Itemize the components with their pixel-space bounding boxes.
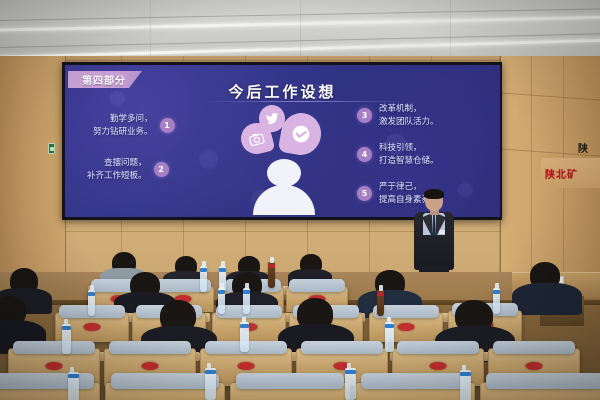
slide-item-2-number: 2 <box>154 162 169 177</box>
slide-item-1: 勤学多问， 努力钻研业务。 1 <box>93 113 175 139</box>
exit-sign-icon <box>48 143 55 154</box>
slide-item-1-number: 1 <box>160 118 175 133</box>
slide-item-2-text: 查摆问题， 补齐工作短板。 <box>87 157 147 183</box>
chair[interactable] <box>230 382 350 400</box>
water-bottle[interactable] <box>385 322 394 352</box>
person-body <box>253 185 315 215</box>
beverage-bottle[interactable] <box>377 290 384 316</box>
slide-title: 今后工作设想 <box>65 81 500 102</box>
ceiling <box>0 0 600 62</box>
venue-banner-text: 陕北矿 <box>545 166 578 181</box>
person-head <box>267 159 301 187</box>
speaker-badge <box>439 230 445 234</box>
water-bottle[interactable] <box>460 370 471 400</box>
water-bottle[interactable] <box>243 288 250 314</box>
slide-item-4-text: 科技引领， 打造智慧仓储。 <box>379 142 439 168</box>
chair[interactable] <box>212 312 286 342</box>
chair[interactable] <box>355 382 475 400</box>
water-bottle[interactable] <box>345 368 356 400</box>
water-bottle[interactable] <box>62 324 71 354</box>
slide-item-5-number: 5 <box>357 186 372 201</box>
water-bottle[interactable] <box>218 288 225 314</box>
chair[interactable] <box>369 312 443 342</box>
venue-banner-partial: 陕 <box>578 140 600 156</box>
slide-item-1-text: 勤学多问， 努力钻研业务。 <box>93 113 153 139</box>
title-divider <box>205 101 405 102</box>
water-bottle[interactable] <box>240 322 249 352</box>
slide-illustration <box>237 103 333 215</box>
water-bottle[interactable] <box>205 368 216 400</box>
conference-room-photo: 陕北矿 陕 第四部分 今后工作设想 <box>0 0 600 400</box>
beverage-bottle[interactable] <box>268 262 275 288</box>
slide-item-3: 3 改革机制， 激发团队活力。 <box>357 103 439 129</box>
attendee-shoulders <box>512 283 582 315</box>
water-bottle[interactable] <box>493 288 500 314</box>
water-bottle[interactable] <box>88 290 95 316</box>
chair[interactable] <box>0 382 100 400</box>
twitter-bird-icon <box>265 112 279 125</box>
water-bottle[interactable] <box>200 266 207 292</box>
check-icon <box>289 122 312 145</box>
slide-item-2: 查摆问题， 补齐工作短板。 2 <box>87 157 169 183</box>
water-bottle[interactable] <box>68 372 79 400</box>
slide-item-4-number: 4 <box>357 147 372 162</box>
slide-item-3-number: 3 <box>357 108 372 123</box>
chair[interactable] <box>480 382 600 400</box>
slide-item-3-text: 改革机制， 激发团队活力。 <box>379 103 439 129</box>
venue-red-banner: 陕北矿 <box>541 158 600 188</box>
slide-item-4: 4 科技引领， 打造智慧仓储。 <box>357 142 439 168</box>
